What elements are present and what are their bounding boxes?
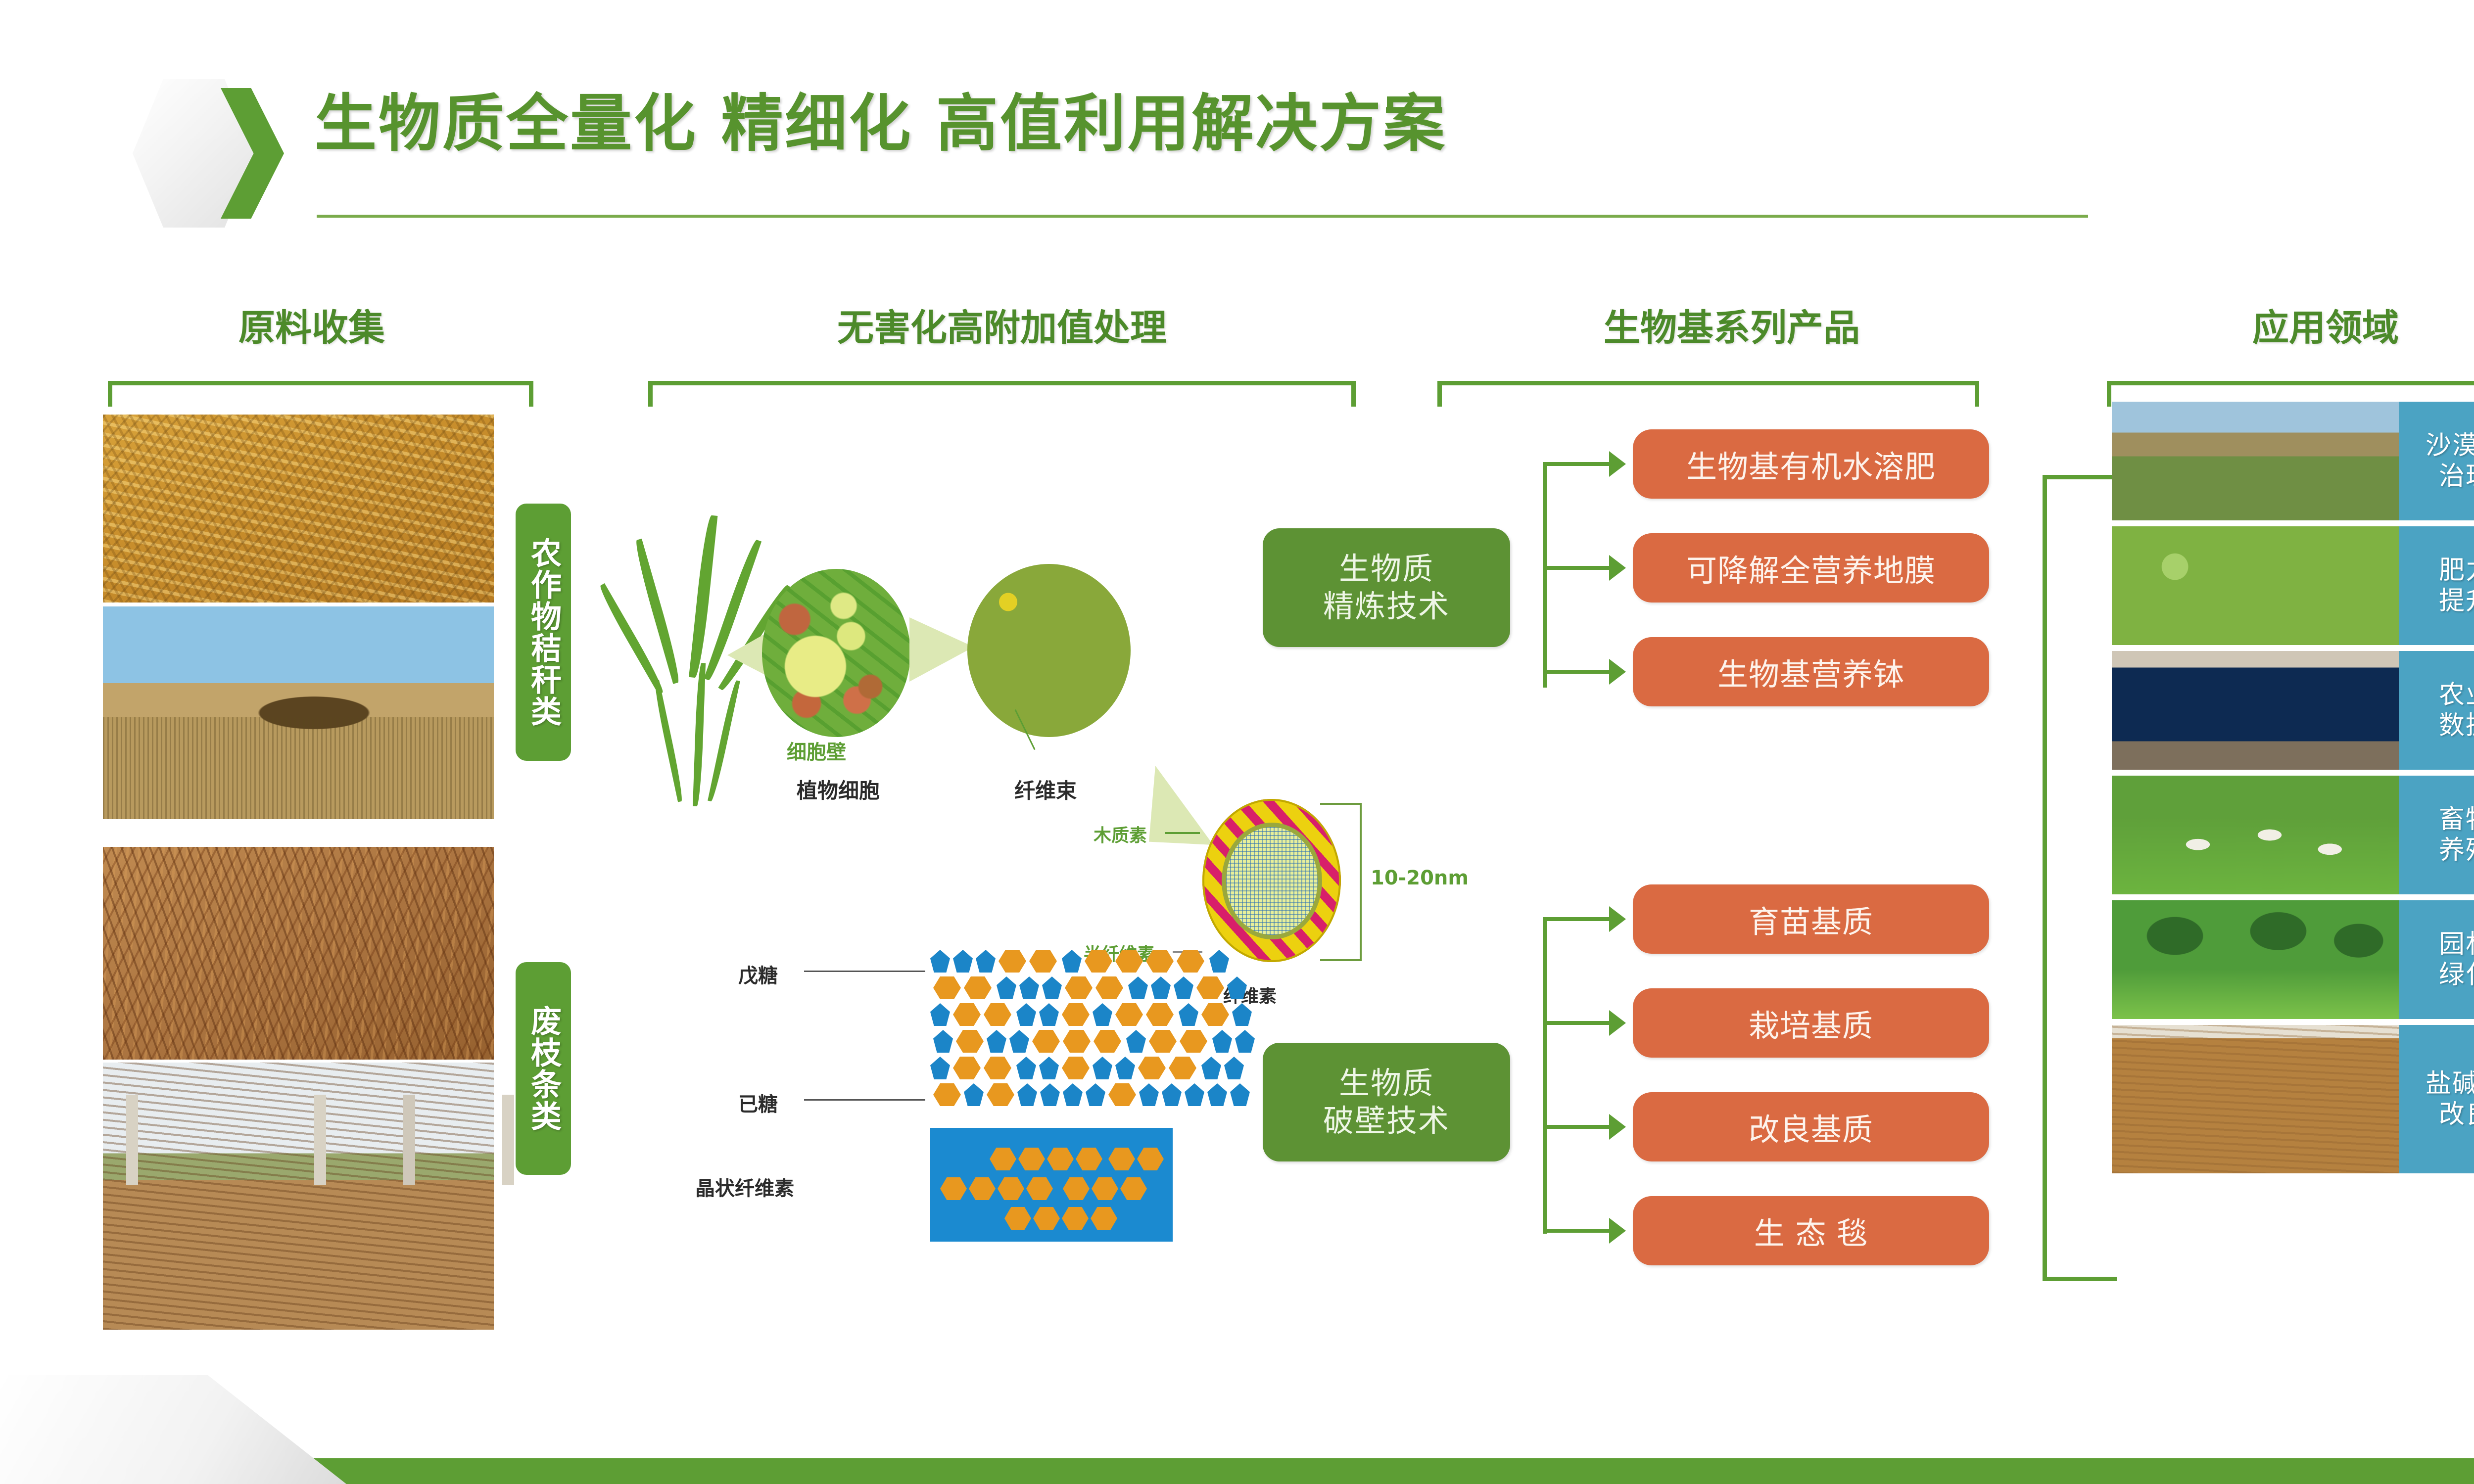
app-label-fertility-line2: 提升 bbox=[2439, 586, 2474, 616]
app-label-agridata-line2: 数据 bbox=[2439, 710, 2474, 741]
app-label-landscape[interactable]: 园林 绿化 bbox=[2399, 900, 2474, 1019]
vineyard-pruning-photo bbox=[103, 1063, 494, 1330]
dimension-tick-bottom bbox=[1320, 959, 1362, 961]
label-cell-wall: 细胞壁 bbox=[787, 736, 846, 765]
title-underline-rule bbox=[317, 215, 2088, 218]
arrow-to-product-7 bbox=[1609, 1218, 1626, 1244]
data-control-room-photo bbox=[2112, 651, 2399, 770]
park-trees-photo bbox=[2112, 900, 2399, 1019]
label-plant-cell: 植物细胞 bbox=[797, 774, 880, 804]
tech-box-refine[interactable]: 生物质 精炼技术 bbox=[1263, 528, 1510, 647]
grass-plant-icon bbox=[643, 514, 757, 811]
app-label-agridata[interactable]: 农业 数据 bbox=[2399, 651, 2474, 770]
fiber-bundle-diagram bbox=[967, 564, 1131, 737]
connector-break-arm-1 bbox=[1543, 917, 1612, 921]
grazing-sheep-photo bbox=[2112, 776, 2399, 894]
product-box-4[interactable]: 育苗基质 bbox=[1633, 884, 1989, 954]
connector-break-arm-2 bbox=[1543, 1021, 1612, 1025]
product-box-7[interactable]: 生 态 毯 bbox=[1633, 1196, 1989, 1265]
footer-white-wedge bbox=[0, 1375, 346, 1484]
app-label-fertility-line1: 肥力 bbox=[2439, 555, 2474, 586]
section-title-collection: 原料收集 bbox=[89, 307, 534, 349]
section-title-processing: 无害化高附加值处理 bbox=[643, 307, 1361, 349]
feedstock-category-straw: 农作物秸秆类 bbox=[516, 504, 571, 761]
desert-control-photo bbox=[2112, 402, 2399, 520]
dry-branches-photo bbox=[103, 847, 494, 1060]
bracket-collection bbox=[108, 381, 533, 407]
connector-refine-arm-1 bbox=[1543, 462, 1612, 466]
app-label-livestock-line2: 养殖 bbox=[2439, 835, 2474, 866]
app-label-saline-line1: 盐碱地 bbox=[2426, 1068, 2474, 1099]
magnify-cone-2 bbox=[909, 617, 974, 682]
label-fiber-bundle: 纤维束 bbox=[1014, 774, 1077, 804]
app-label-desert-line1: 沙漠化 bbox=[2426, 430, 2474, 461]
arrow-to-product-3 bbox=[1609, 659, 1626, 685]
label-lignin: 木质素 bbox=[1094, 821, 1147, 847]
app-label-landscape-line1: 园林 bbox=[2439, 929, 2474, 960]
connector-refine-arm-2 bbox=[1543, 566, 1612, 570]
label-pentose: 戊糖 bbox=[738, 960, 778, 988]
tech-box-breakwall[interactable]: 生物质 破壁技术 bbox=[1263, 1043, 1510, 1161]
tech-refine-line1: 生物质 bbox=[1339, 550, 1434, 588]
tech-break-line1: 生物质 bbox=[1339, 1065, 1434, 1102]
product-box-6[interactable]: 改良基质 bbox=[1633, 1092, 1989, 1161]
product-box-2[interactable]: 可降解全营养地膜 bbox=[1633, 533, 1989, 603]
lignin-leader-line bbox=[1165, 832, 1200, 834]
straw-bale-photo bbox=[103, 606, 494, 819]
label-crystalline-cellulose: 晶状纤维素 bbox=[695, 1172, 794, 1201]
product-box-1[interactable]: 生物基有机水溶肥 bbox=[1633, 429, 1989, 499]
app-label-desert[interactable]: 沙漠化 治理 bbox=[2399, 402, 2474, 520]
arrow-to-product-2 bbox=[1609, 555, 1626, 581]
bracket-products bbox=[1437, 381, 1979, 407]
arrow-to-product-4 bbox=[1609, 906, 1626, 932]
crystalline-cellulose-diagram bbox=[930, 1128, 1173, 1242]
connector-refine-arm-3 bbox=[1543, 670, 1612, 674]
hemicellulose-chain-diagram bbox=[930, 950, 1257, 1113]
dimension-bar-vertical bbox=[1360, 803, 1362, 961]
app-label-saline-line2: 改良 bbox=[2439, 1099, 2474, 1130]
header-hex-logo bbox=[133, 79, 281, 228]
hexose-leader-line bbox=[804, 1099, 925, 1101]
app-label-saline[interactable]: 盐碱地 改良 bbox=[2399, 1025, 2474, 1173]
dimension-tick-top bbox=[1320, 803, 1362, 805]
app-label-livestock[interactable]: 畜牧 养殖 bbox=[2399, 776, 2474, 894]
page-title: 生物质全量化 精细化 高值利用解决方案 bbox=[315, 87, 1898, 161]
arrow-to-product-5 bbox=[1609, 1010, 1626, 1036]
app-label-desert-line2: 治理 bbox=[2439, 461, 2474, 492]
app-label-livestock-line1: 畜牧 bbox=[2439, 804, 2474, 835]
connector-break-arm-3 bbox=[1543, 1125, 1612, 1129]
product-box-5[interactable]: 栽培基质 bbox=[1633, 988, 1989, 1058]
footer-green-bar bbox=[0, 1458, 2474, 1484]
app-label-landscape-line2: 绿化 bbox=[2439, 960, 2474, 990]
feedstock-category-branch: 废枝条类 bbox=[516, 962, 571, 1175]
app-label-fertility[interactable]: 肥力 提升 bbox=[2399, 526, 2474, 645]
pentose-leader-line bbox=[804, 971, 925, 972]
label-nano-dimension: 10-20nm bbox=[1371, 867, 1469, 889]
app-label-agridata-line1: 农业 bbox=[2439, 680, 2474, 710]
tech-break-line2: 破壁技术 bbox=[1323, 1102, 1450, 1140]
connector-break-spine bbox=[1543, 917, 1547, 1234]
connector-refine-spine bbox=[1543, 464, 1547, 688]
cellulose-core bbox=[1226, 827, 1318, 935]
corn-stover-photo bbox=[103, 415, 494, 603]
label-hexose: 已糖 bbox=[738, 1088, 778, 1117]
connector-break-arm-4 bbox=[1543, 1229, 1612, 1233]
bracket-processing bbox=[648, 381, 1356, 407]
tech-refine-line2: 精炼技术 bbox=[1323, 588, 1450, 625]
product-box-3[interactable]: 生物基营养钵 bbox=[1633, 637, 1989, 706]
cabbage-field-photo bbox=[2112, 526, 2399, 645]
arrow-to-product-6 bbox=[1609, 1114, 1626, 1140]
plant-cell-diagram bbox=[762, 569, 910, 737]
saline-soil-photo bbox=[2112, 1025, 2399, 1173]
section-title-products: 生物基系列产品 bbox=[1435, 307, 2029, 349]
bracket-applications-input bbox=[2043, 475, 2117, 1281]
section-title-applications: 应用领域 bbox=[2103, 307, 2474, 349]
arrow-to-product-1 bbox=[1609, 451, 1626, 477]
